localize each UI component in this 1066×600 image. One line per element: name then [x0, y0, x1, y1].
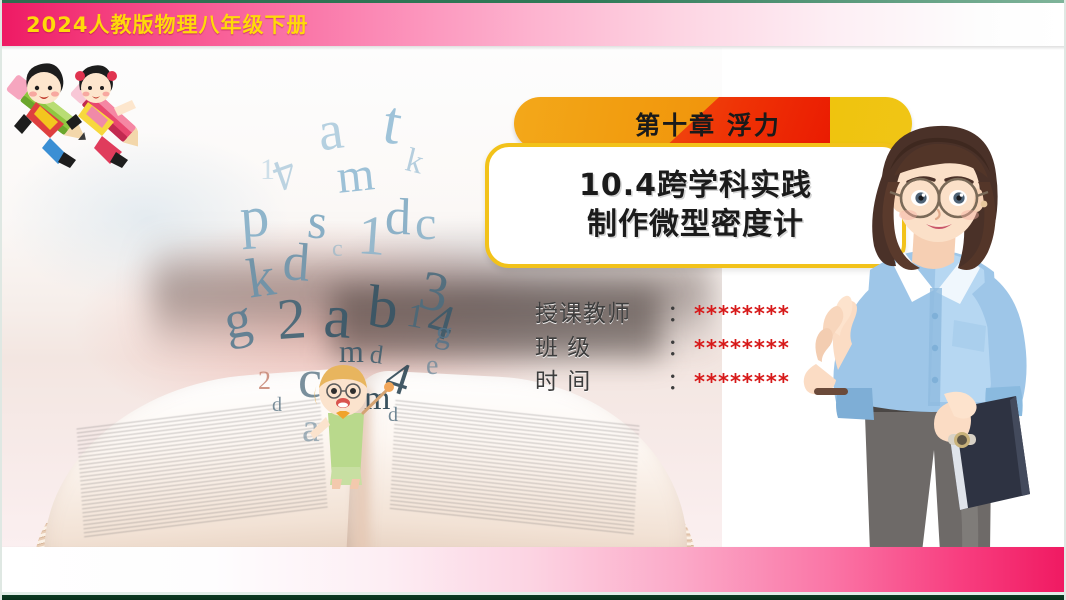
- meta-value-time: ********: [694, 370, 790, 394]
- meta-row-time: 时 间 ： ********: [535, 362, 790, 396]
- lesson-title-line-2: 制作微型密度计: [587, 206, 804, 244]
- meta-colon: ：: [667, 328, 690, 362]
- lesson-title-line-1: 10.4跨学科实践: [579, 167, 812, 205]
- teacher-illustration: [794, 120, 1062, 552]
- bottom-rule: [2, 592, 1064, 600]
- meta-label-class: 班 级: [535, 328, 667, 362]
- slide-root: atkm41ps1dcckdg2ab134gmd4ec2demd2a: [0, 0, 1066, 600]
- meta-value-teacher: ********: [694, 302, 790, 326]
- meta-row-class: 班 级 ： ********: [535, 328, 790, 362]
- meta-colon: ：: [667, 294, 690, 328]
- meta-row-teacher: 授课教师 ： ********: [535, 294, 790, 328]
- bottom-band: [2, 547, 1064, 592]
- meta-label-teacher: 授课教师: [535, 294, 667, 328]
- meta-colon: ：: [667, 362, 690, 396]
- meta-label-time: 时 间: [535, 362, 667, 396]
- top-band-shadow: [2, 46, 1064, 50]
- course-label: 2024人教版物理八年级下册: [26, 9, 308, 39]
- wizard-kid-illustration: [288, 355, 398, 490]
- kids-on-pencils-illustration: [6, 52, 138, 168]
- meta-value-class: ********: [694, 336, 790, 360]
- top-rule: [2, 0, 1064, 3]
- book-page-text-lines: [389, 400, 639, 535]
- lesson-meta-block: 授课教师 ： ******** 班 级 ： ******** 时 间 ： ***…: [535, 294, 790, 396]
